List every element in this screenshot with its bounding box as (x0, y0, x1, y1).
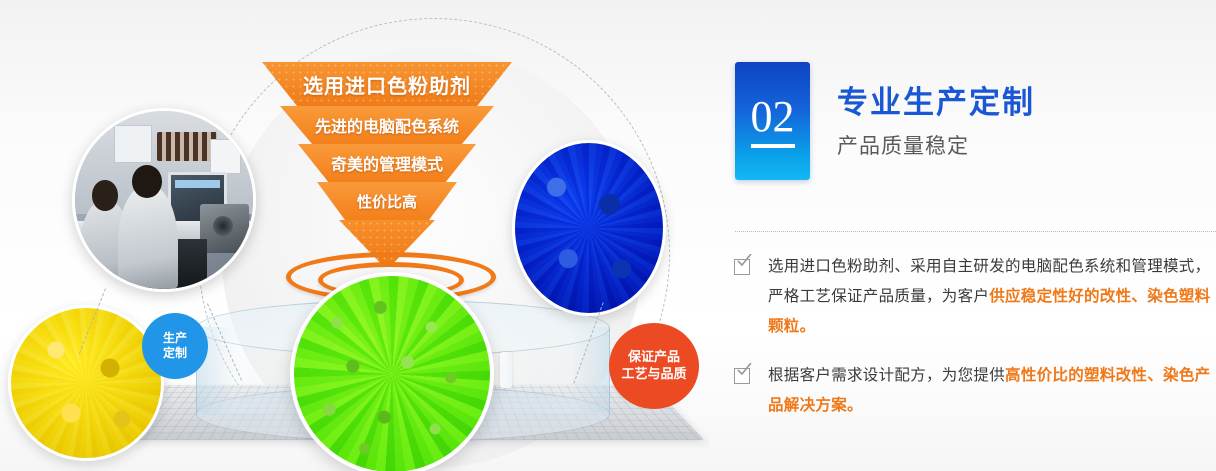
feature-text-line: 颗粒。 (768, 312, 1210, 342)
callout-quality-assurance: 保证产品 工艺与品质 (609, 323, 699, 409)
feature-list: 选用进口色粉助剂、采用自主研发的电脑配色系统和管理模式，严格工艺保证产品质量，为… (728, 252, 1216, 439)
feature-text: 选用进口色粉助剂、采用自主研发的电脑配色系统和管理模式，严格工艺保证产品质量，为… (768, 252, 1210, 343)
section-subtitle: 产品质量稳定 (837, 130, 1035, 160)
feature-list-item: 根据客户需求设计配方，为您提供高性价比的塑料改性、染色产品解决方案。 (728, 361, 1216, 421)
feature-text: 根据客户需求设计配方，为您提供高性价比的塑料改性、染色产品解决方案。 (768, 361, 1210, 421)
highlight-text: 品解决方案。 (768, 397, 863, 414)
callout-orange-line-2: 工艺与品质 (621, 366, 686, 383)
feature-text-line: 严格工艺保证产品质量，为客户供应稳定性好的改性、染色塑料 (768, 282, 1210, 312)
callout-blue-line-2: 定制 (163, 346, 187, 361)
funnel-layer-2: 先进的电脑配色系统 (280, 106, 494, 144)
funnel-diagram: 选用进口色粉助剂 先进的电脑配色系统 奇美的管理模式 性价比高 (262, 62, 512, 262)
highlight-text: 供应稳定性好的改性、染色塑料 (989, 288, 1210, 305)
promo-banner: 选用进口色粉助剂 先进的电脑配色系统 奇美的管理模式 性价比高 生产 定制 (0, 0, 1216, 471)
funnel-layer-3: 奇美的管理模式 (298, 144, 476, 182)
lab-instrument (200, 204, 250, 254)
feature-text-line: 品解决方案。 (768, 391, 1210, 421)
section-number: 02 (751, 95, 795, 148)
callout-production-customization: 生产 定制 (142, 313, 208, 379)
plain-text: 根据客户需求设计配方，为您提供 (768, 367, 1005, 384)
highlight-text: 颗粒。 (768, 318, 815, 335)
checkbox-checked-icon (734, 366, 753, 385)
plain-text: 选用进口色粉助剂、采用自主研发的电脑配色系统和管理模式， (768, 258, 1210, 275)
funnel-layer-1: 选用进口色粉助剂 (262, 62, 512, 106)
lab-photo (72, 108, 256, 292)
funnel-layer-1-label: 选用进口色粉助剂 (303, 70, 471, 99)
content-panel: 02 专业生产定制 产品质量稳定 选用进口色粉助剂、采用自主研发的电脑配色系统和… (710, 0, 1216, 471)
callout-orange-line-1: 保证产品 (628, 349, 680, 366)
funnel-layer-3-label: 奇美的管理模式 (331, 151, 443, 175)
lab-sample-rack (157, 132, 218, 160)
lab-poster-2 (210, 139, 240, 173)
process-illustration: 选用进口色粉助剂 先进的电脑配色系统 奇美的管理模式 性价比高 生产 定制 (0, 0, 710, 471)
funnel-layer-4: 性价比高 (317, 182, 457, 220)
section-divider (735, 231, 1216, 232)
funnel-layer-4-label: 性价比高 (357, 191, 417, 212)
lab-technician-2 (118, 186, 179, 289)
feature-list-item: 选用进口色粉助剂、采用自主研发的电脑配色系统和管理模式，严格工艺保证产品质量，为… (728, 252, 1216, 343)
checkbox-checked-icon (734, 257, 753, 276)
blue-powder-circle (512, 140, 666, 316)
lab-poster-1 (114, 125, 152, 163)
plain-text: 严格工艺保证产品质量，为客户 (768, 288, 989, 305)
yellow-powder-circle (8, 305, 164, 461)
highlight-text: 高性价比的塑料改性、染色产 (1005, 367, 1210, 384)
funnel-layer-2-label: 先进的电脑配色系统 (315, 113, 459, 137)
feature-text-line: 选用进口色粉助剂、采用自主研发的电脑配色系统和管理模式， (768, 252, 1210, 282)
green-pellets-circle (290, 272, 494, 471)
cylinder-handle-right (500, 352, 512, 388)
section-title: 专业生产定制 (837, 84, 1035, 122)
callout-blue-line-1: 生产 (163, 331, 187, 346)
feature-text-line: 根据客户需求设计配方，为您提供高性价比的塑料改性、染色产 (768, 361, 1210, 391)
section-number-badge: 02 (735, 62, 810, 180)
section-header: 02 专业生产定制 产品质量稳定 (735, 62, 1035, 180)
